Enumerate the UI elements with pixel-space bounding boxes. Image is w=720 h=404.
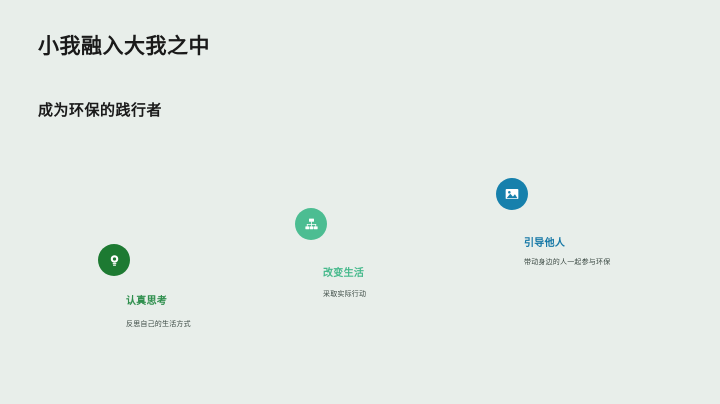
timeline-marker-1[interactable]: [98, 244, 130, 276]
timeline: 认真思考 反思自己的生活方式: [0, 0, 720, 404]
sitemap-icon: [304, 217, 319, 232]
timeline-description-2: 采取实际行动: [323, 290, 443, 300]
timeline-marker-2[interactable]: [295, 208, 327, 240]
timeline-description-1: 反思自己的生活方式: [126, 320, 246, 330]
timeline-label-2: 改变生活: [323, 264, 364, 279]
timeline-label-3: 引导他人: [524, 234, 565, 249]
timeline-label-1: 认真思考: [126, 292, 167, 307]
slide-canvas: 小我融入大我之中 成为环保的践行者 认真思考 反思自己的生活方式: [0, 0, 720, 404]
timeline-description-3: 带动身边的人一起参与环保: [524, 258, 616, 268]
image-icon: [504, 186, 520, 202]
lightbulb-icon: [107, 253, 122, 268]
timeline-marker-3[interactable]: [496, 178, 528, 210]
